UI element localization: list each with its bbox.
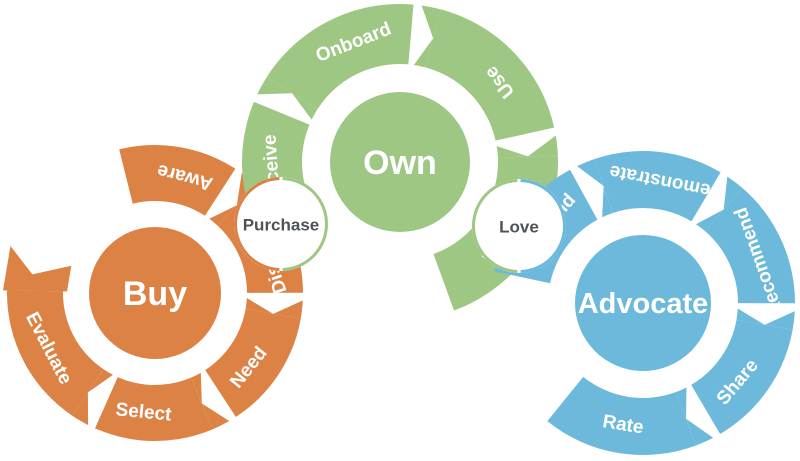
connector-node-purchase[interactable]: Purchase [234, 177, 328, 271]
diagram-canvas: AwareDiscoverNeedSelectEvaluateBuyReceiv… [0, 0, 800, 461]
arrow-head-icon-buy [3, 246, 71, 291]
connector-node-love[interactable]: Love [472, 179, 566, 273]
customer-lifecycle-diagram: AwareDiscoverNeedSelectEvaluateBuyReceiv… [0, 0, 800, 461]
node-label-purchase: Purchase [243, 216, 320, 235]
hub-label-buy: Buy [123, 275, 187, 313]
hub-label-advocate: Advocate [578, 288, 709, 320]
ring-layer: AwareDiscoverNeedSelectEvaluateBuyReceiv… [3, 3, 797, 455]
node-label-love: Love [499, 218, 539, 237]
hub-label-own: Own [363, 144, 437, 182]
